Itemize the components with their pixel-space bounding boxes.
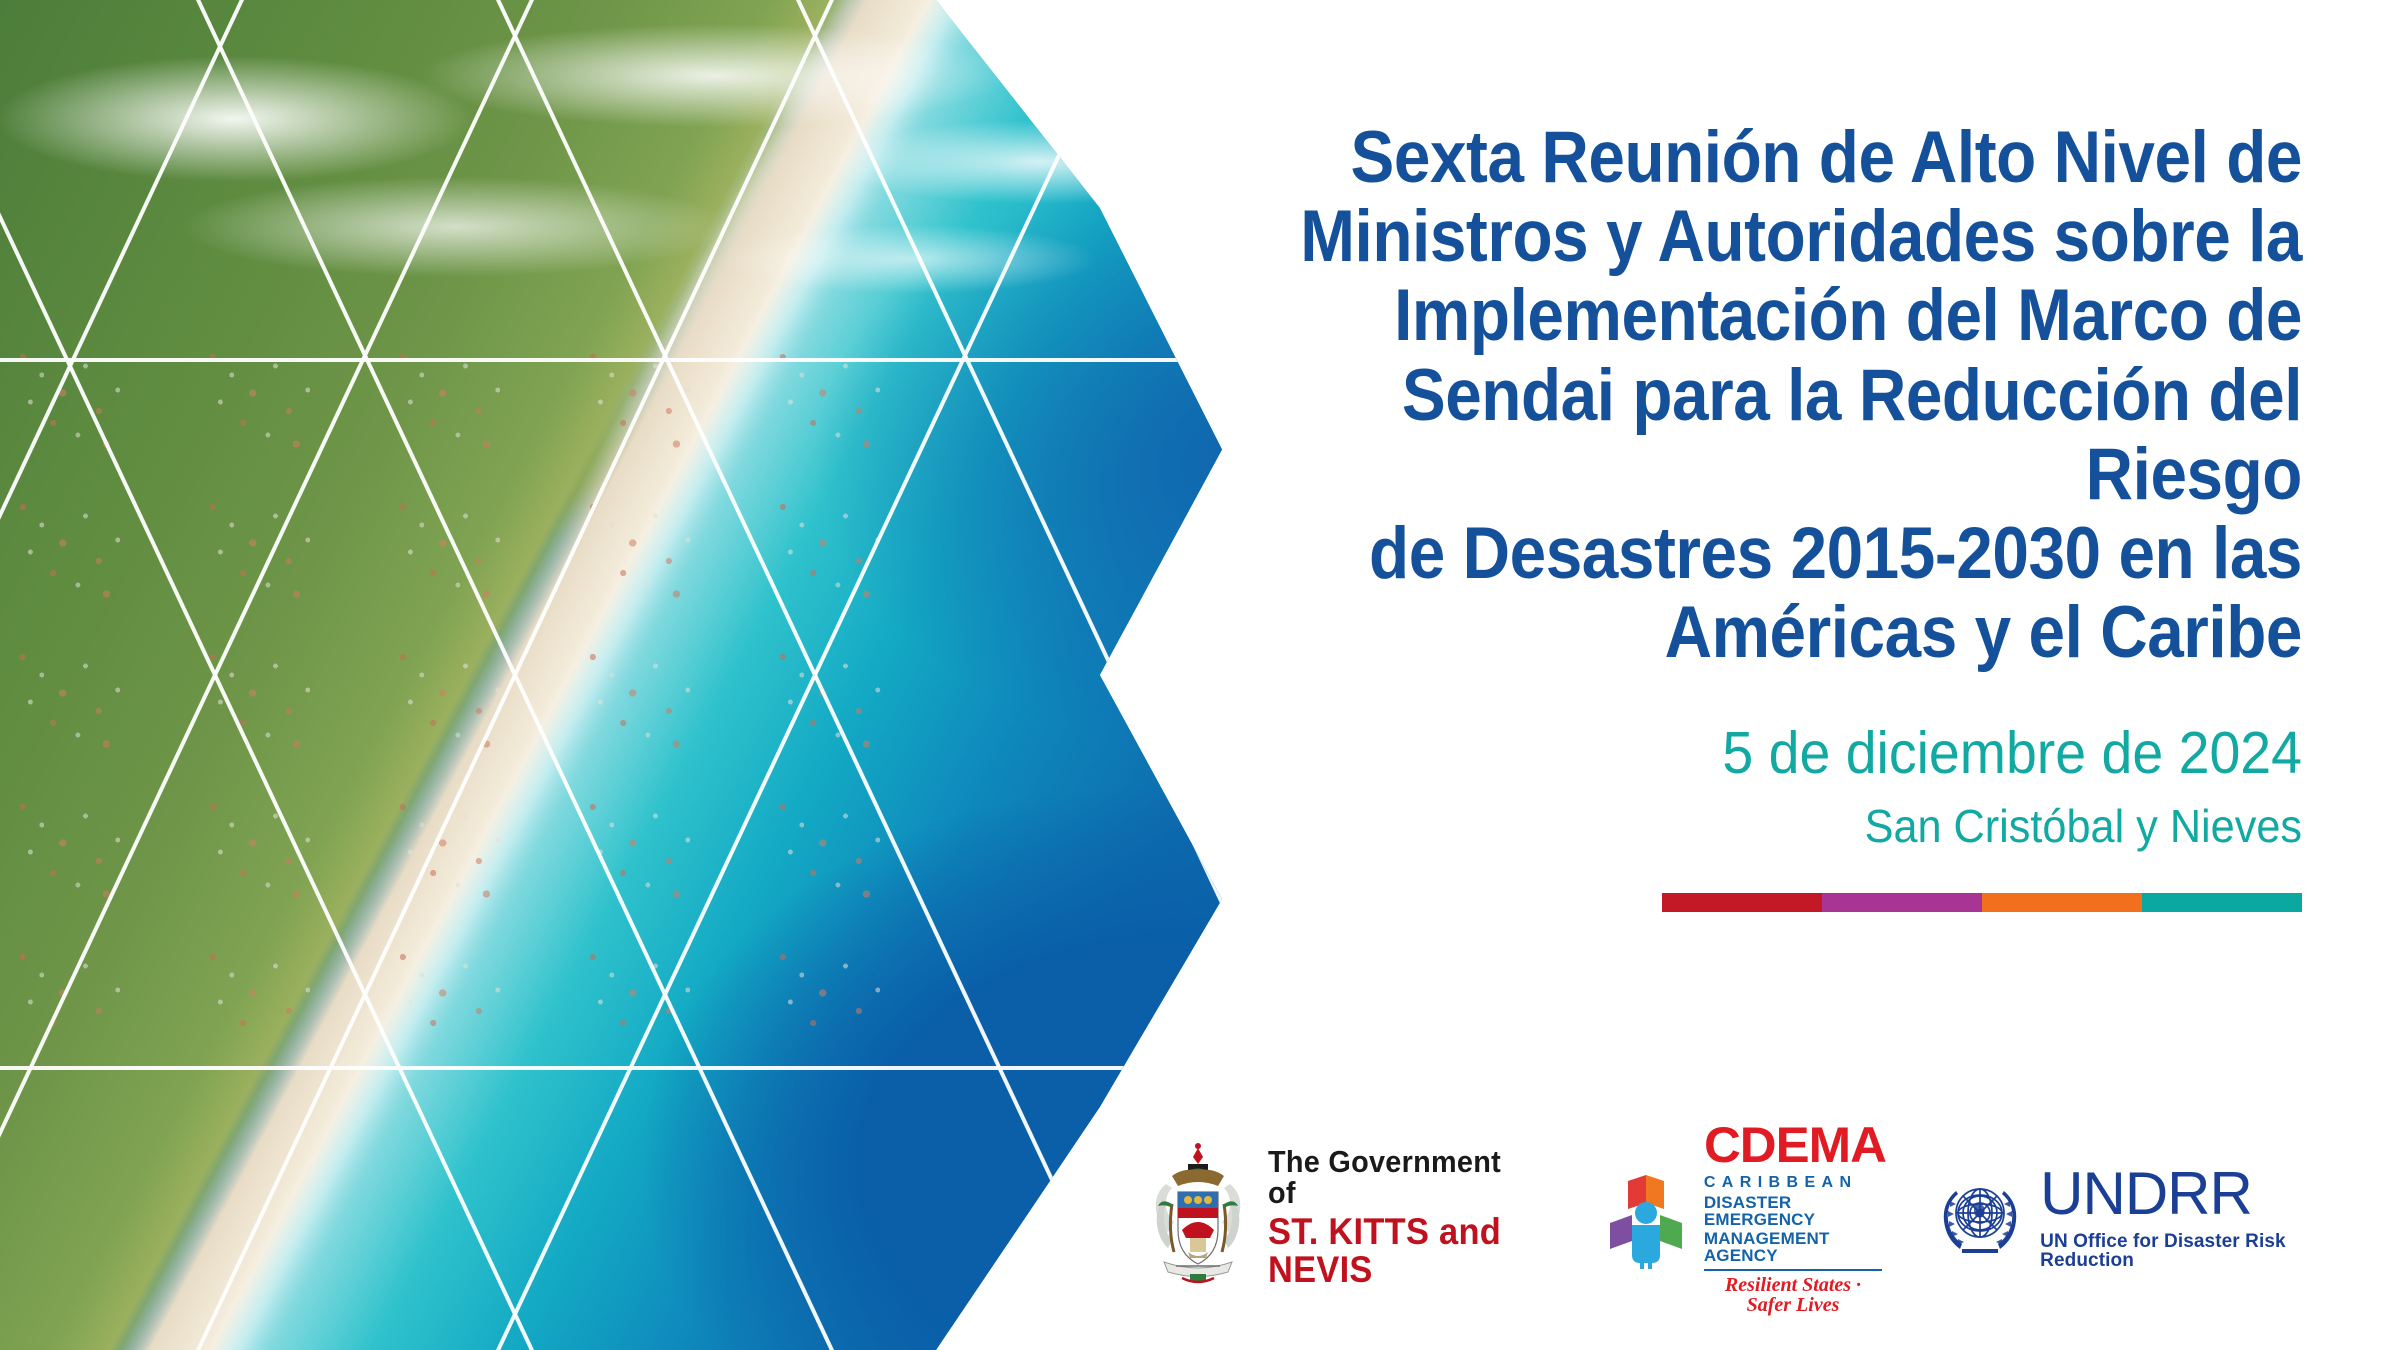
undrr-acronym: UNDRR: [2040, 1164, 2302, 1224]
partner-logos: The Government of ST. KITTS and NEVIS: [1142, 1122, 2302, 1312]
title-line: Sendai para la Reducción del Riesgo: [1402, 355, 2302, 515]
coat-of-arms-icon: [1142, 1142, 1254, 1292]
color-bar-segment-red: [1662, 893, 1822, 912]
government-line-2: ST. KITTS and NEVIS: [1268, 1213, 1530, 1288]
color-bar-segment-teal: [2142, 893, 2302, 912]
title-line: de Desastres 2015-2030 en las: [1369, 513, 2302, 594]
accent-color-bar: [1662, 893, 2302, 912]
triangular-mesh-overlay: [0, 0, 1300, 1350]
title-line: Sexta Reunión de Alto Nivel de: [1350, 117, 2302, 198]
event-date: 5 de diciembre de 2024: [1212, 724, 2302, 783]
content-column: Sexta Reunión de Alto Nivel de Ministros…: [1142, 0, 2302, 1350]
color-bar-segment-purple: [1822, 893, 1982, 912]
logo-government-st-kitts-nevis: The Government of ST. KITTS and NEVIS: [1142, 1142, 1550, 1292]
title-line: Américas y el Caribe: [1665, 592, 2302, 673]
cdema-mark-icon: [1602, 1165, 1690, 1269]
un-emblem-icon: [1934, 1171, 2026, 1263]
cdema-subtitle-3: MANAGEMENT AGENCY: [1704, 1230, 1882, 1264]
cdema-subtitle-1: CARIBBEAN: [1704, 1175, 1882, 1191]
page-title: Sexta Reunión de Alto Nivel de Ministros…: [1258, 118, 2302, 672]
color-bar-segment-orange: [1982, 893, 2142, 912]
cdema-divider: [1704, 1269, 1882, 1271]
cdema-acronym: CDEMA: [1704, 1120, 1886, 1170]
hero-photo-panel: [0, 0, 1300, 1350]
title-line: Implementación del Marco de: [1394, 275, 2302, 356]
event-banner: Sexta Reunión de Alto Nivel de Ministros…: [0, 0, 2400, 1350]
government-wordmark: The Government of ST. KITTS and NEVIS: [1268, 1146, 1550, 1289]
event-location: San Cristóbal y Nieves: [1212, 803, 2302, 849]
cdema-subtitle-2: DISASTER EMERGENCY: [1704, 1194, 1882, 1228]
logo-undrr: UNDRR UN Office for Disaster Risk Reduct…: [1934, 1164, 2302, 1270]
logo-cdema: CDEMA CARIBBEAN DISASTER EMERGENCY MANAG…: [1602, 1120, 1882, 1315]
cdema-wordmark: CDEMA CARIBBEAN DISASTER EMERGENCY MANAG…: [1704, 1120, 1882, 1315]
undrr-subtitle: UN Office for Disaster Risk Reduction: [2040, 1232, 2302, 1270]
title-line: Ministros y Autoridades sobre la: [1300, 196, 2302, 277]
government-line-1: The Government of: [1268, 1146, 1530, 1209]
undrr-wordmark: UNDRR UN Office for Disaster Risk Reduct…: [2040, 1164, 2302, 1270]
cdema-tagline: Resilient States · Safer Lives: [1704, 1275, 1882, 1315]
